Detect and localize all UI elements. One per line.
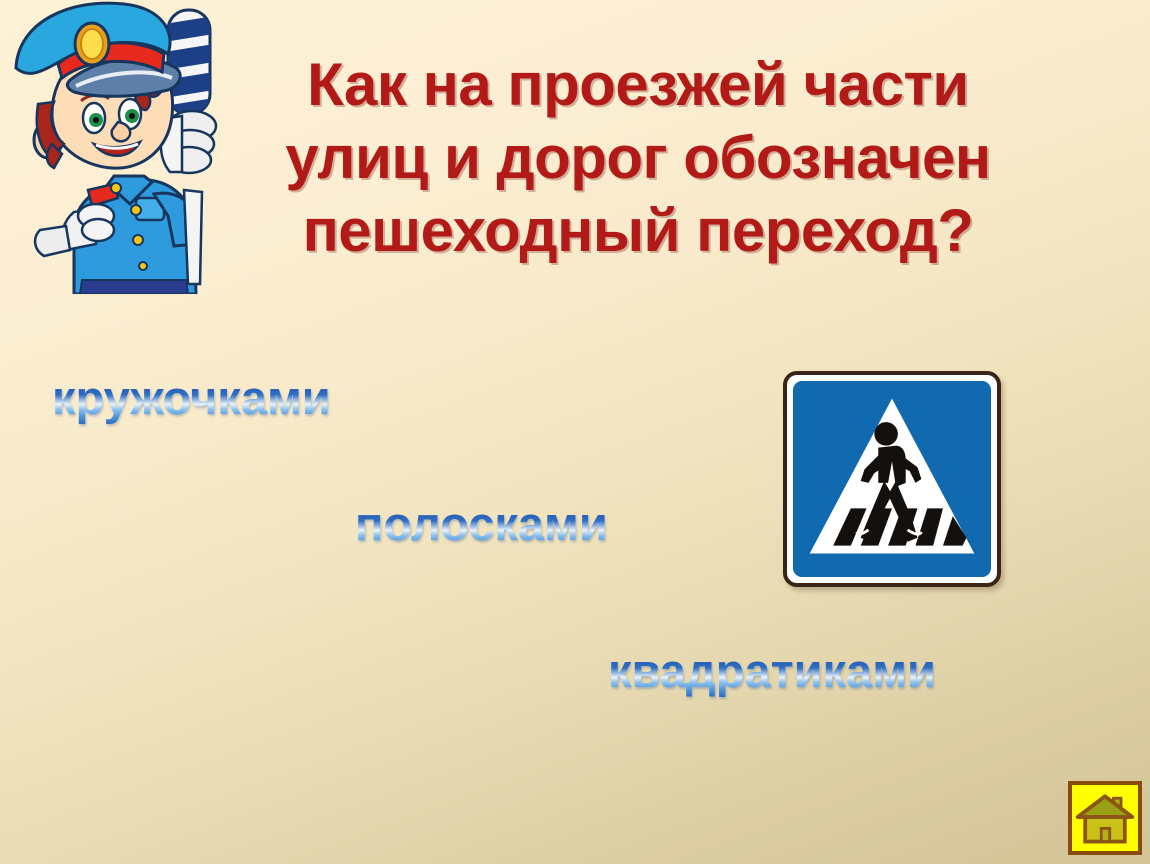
cartoon-traffic-policeman-illustration: [0, 0, 264, 294]
answer-option-poloskami[interactable]: полосками: [355, 498, 608, 550]
question-line-2: улиц и дорог обозначен: [228, 121, 1048, 194]
answer-option-kvadratikami[interactable]: квадратиками: [608, 645, 936, 697]
sign-blue-field: [793, 381, 991, 577]
pedestrian-crossing-sign: [783, 371, 1001, 587]
question-line-1: Как на проезжей части: [228, 48, 1048, 121]
question-title: Как на проезжей части улиц и дорог обозн…: [228, 48, 1048, 267]
answer-option-krughochkami[interactable]: кружочками: [52, 372, 331, 424]
home-button[interactable]: [1068, 781, 1142, 855]
question-line-3: пешеходный переход?: [228, 194, 1048, 267]
slide-canvas: Как на проезжей части улиц и дорог обозн…: [0, 0, 1150, 864]
